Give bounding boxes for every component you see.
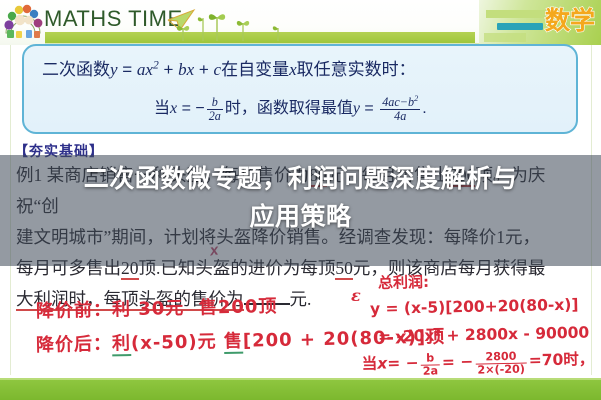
slide-header: MATHS TIME 数学 [0, 0, 601, 45]
overlay-title: 二次函数微专题，利润问题深度解析与 应用策略 [0, 160, 601, 236]
fraction2-numerator: 4ac−b2 [380, 95, 420, 109]
hw-row1-label: 降价前： [36, 299, 112, 322]
formula2-period: . [422, 100, 426, 117]
header-teal-bar [497, 23, 543, 30]
formula2-fraction-2: 4ac−b24a [380, 95, 420, 123]
formula-prefix: 二次函数 [42, 60, 110, 79]
hw-row2-label: 降价后： [36, 333, 112, 356]
overlay-title-line1: 二次函数微专题，利润问题深度解析与 [0, 160, 601, 198]
formula2-fraction: b2a [207, 96, 223, 123]
hw-frac1-den: 2a [421, 364, 441, 377]
fraction2-num-text: 4ac−b [382, 95, 414, 109]
fraction-numerator: b [207, 96, 223, 109]
exercise-line4b: 元. [290, 289, 312, 309]
formula2-eq: = [177, 100, 195, 117]
hw-eq3-fraction-1: b2a [420, 353, 440, 378]
formula-line-2: 当x = −b2a时，函数取得最值y = 4ac−b24a. [154, 94, 427, 122]
hw-row2-profit-c: 元 [197, 331, 216, 352]
hw-row2-profit-a: 利 [112, 333, 131, 356]
formula-x: x [145, 60, 153, 79]
hw-eq3-x: x [377, 354, 387, 372]
hw-row2-profit-b: (x-50) [131, 332, 198, 354]
formula2-minus: − [195, 100, 204, 117]
hw-eq3-eq2: = − [442, 353, 474, 372]
subject-badge: 数学 [545, 6, 595, 36]
hw-eq3-eq: = − [387, 354, 419, 373]
hw-frac1-num: b [420, 353, 440, 365]
formula-x3: x [289, 60, 297, 79]
formula-c: c [214, 60, 222, 79]
hw-eq3-fraction-2: 28002×(-20) [475, 351, 527, 376]
fraction2-denominator: 4a [380, 109, 420, 123]
handwriting-total-profit-label: 总利润: [378, 271, 429, 293]
sprout-icon [174, 20, 192, 47]
formula-line-1: 二次函数y = ax2 + bx + c在自变量x取任意实数时： [42, 55, 416, 80]
people-circle-logo-icon [2, 3, 44, 41]
brand-title: MATHS TIME [44, 6, 183, 32]
fraction-denominator: 2a [207, 109, 223, 123]
header-deco-block [484, 33, 526, 42]
formula2-y: y [353, 100, 360, 117]
hw-frac2-den: 2×(-20) [475, 363, 527, 377]
handwriting-x-mark: ε [351, 286, 361, 305]
formula-eq: = [118, 60, 137, 79]
sprout-icon [234, 16, 252, 47]
formula-when: 当 [154, 100, 170, 117]
formula-tail: 取任意实数时： [297, 60, 416, 79]
header-deco-block [486, 10, 546, 18]
formula2-mid: 时，函数取得最值 [225, 100, 353, 117]
formula-plus2: + [194, 60, 213, 79]
formula-card: 二次函数y = ax2 + bx + c在自变量x取任意实数时： 当x = −b… [22, 44, 578, 134]
formula2-eq2: = [360, 100, 378, 117]
formula-suffix: 在自变量 [221, 60, 289, 79]
hw-row2-sales-a: 售 [224, 331, 243, 354]
formula-y: y [110, 60, 118, 79]
fraction2-num-sup: 2 [414, 94, 418, 103]
formula-plus: + [159, 60, 178, 79]
overlay-title-line2: 应用策略 [0, 198, 601, 236]
handwriting-equation-2: = -20x² + 2800x - 90000 [378, 324, 590, 346]
handwriting-before-discount: 降价前：利 30元 售200顶 [36, 292, 278, 323]
header-green-bar [45, 32, 475, 43]
slide-canvas: MATHS TIME 数学 [0, 0, 601, 400]
hw-row1-profit: 利 30元 [112, 298, 185, 321]
hw-row1-sales: 售200顶 [199, 296, 278, 319]
sprout-icon [206, 8, 228, 47]
formula-b: b [178, 60, 187, 79]
slide-footer [0, 380, 601, 400]
hw-eq3-when: 当 [362, 355, 378, 373]
